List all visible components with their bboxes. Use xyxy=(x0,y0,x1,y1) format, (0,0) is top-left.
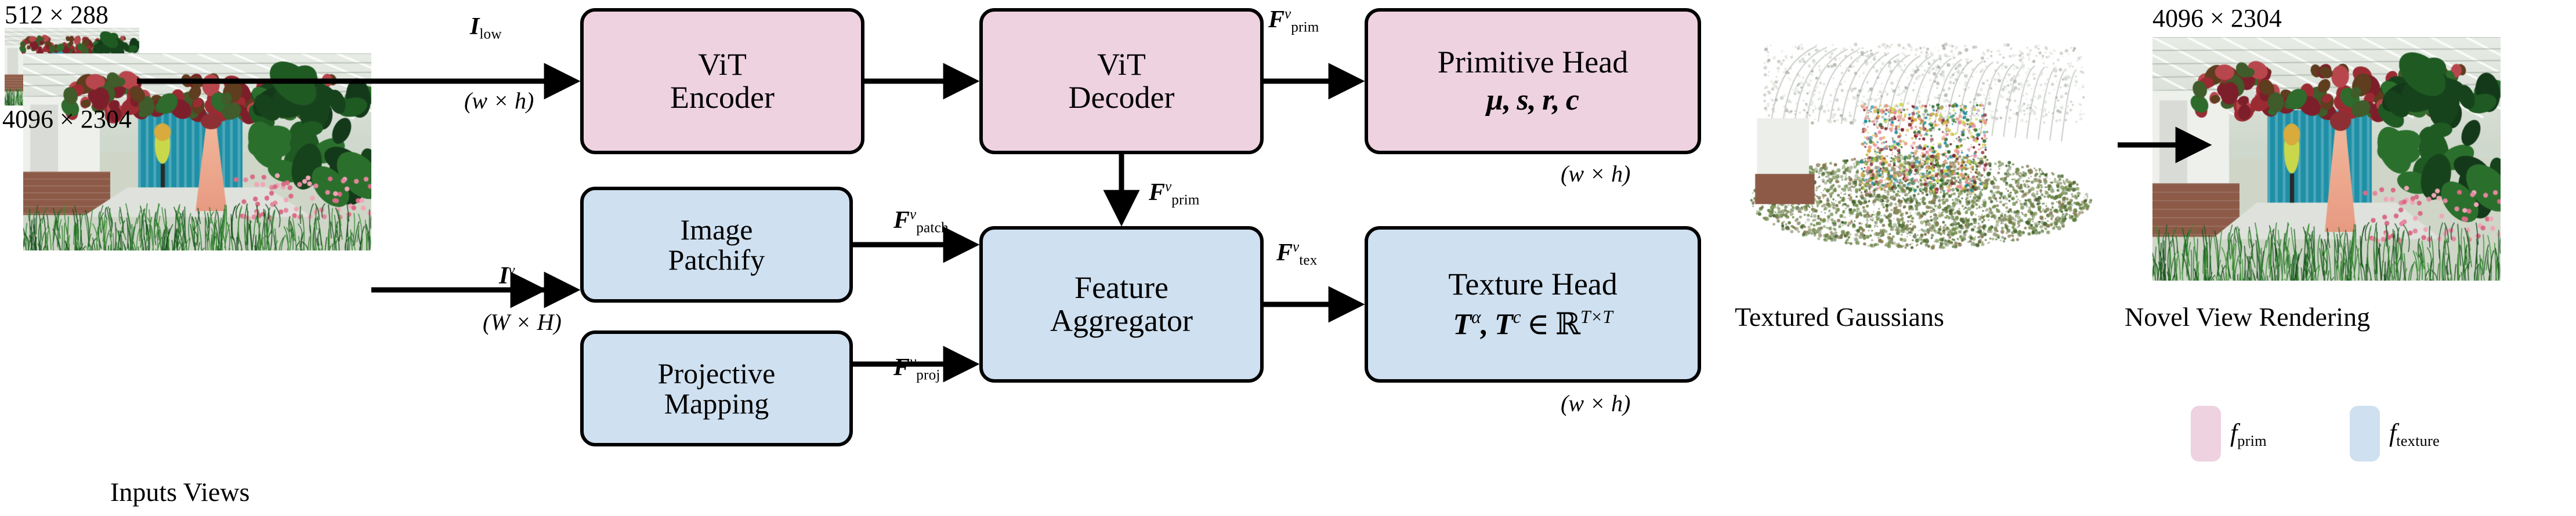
diagram-connectors xyxy=(0,0,2576,516)
